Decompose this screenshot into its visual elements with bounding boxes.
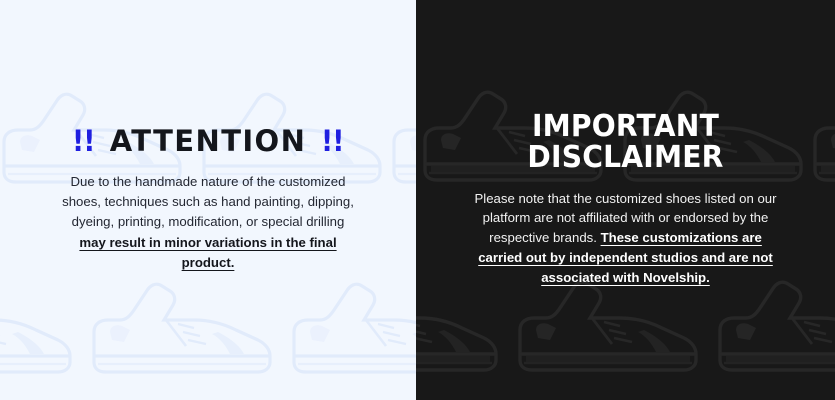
attention-body-normal: Due to the handmade nature of the custom… (62, 174, 354, 229)
disclaimer-heading-line2: DISCLAIMER (451, 143, 800, 174)
exclamation-left-icon: !! (72, 127, 94, 156)
attention-body-emphasis: may result in minor variations in the fi… (79, 235, 336, 270)
attention-title: ATTENTION (110, 127, 307, 156)
attention-panel: !! ATTENTION !! Due to the handmade natu… (0, 0, 416, 400)
disclaimer-content: IMPORTANT DISCLAIMER Please note that th… (416, 112, 835, 287)
disclaimer-panel: IMPORTANT DISCLAIMER Please note that th… (416, 0, 835, 400)
attention-heading: !! ATTENTION !! (24, 127, 392, 156)
attention-content: !! ATTENTION !! Due to the handmade natu… (0, 127, 416, 272)
disclaimer-heading: IMPORTANT DISCLAIMER (451, 112, 800, 173)
disclaimer-heading-line1: IMPORTANT (451, 112, 800, 143)
disclaimer-banner: !! ATTENTION !! Due to the handmade natu… (0, 0, 835, 400)
disclaimer-body: Please note that the customized shoes li… (470, 189, 782, 288)
attention-body: Due to the handmade nature of the custom… (58, 172, 358, 272)
exclamation-right-icon: !! (321, 127, 343, 156)
